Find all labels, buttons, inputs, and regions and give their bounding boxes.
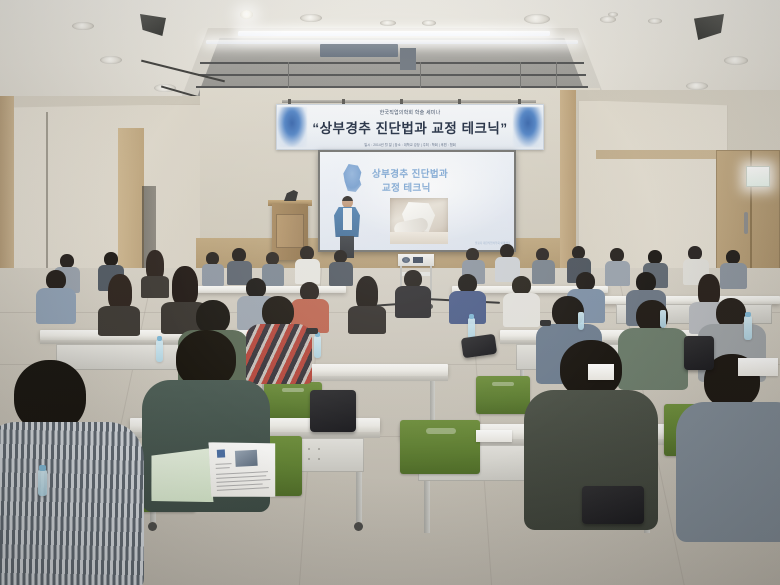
projector-vent	[413, 257, 423, 263]
presenter-shirt	[343, 208, 352, 230]
chair	[476, 376, 530, 414]
booklet-right-page	[208, 439, 279, 500]
recessed-downlight	[600, 16, 616, 23]
water-bottle	[660, 310, 666, 328]
left-wall-panel	[10, 104, 202, 276]
recessed-downlight	[72, 22, 94, 30]
screen-title-line1: 상부경추 진단법과	[372, 166, 448, 180]
ceiling-speaker	[140, 14, 166, 36]
bottle-cap	[157, 336, 162, 341]
bottle-cap	[39, 465, 46, 471]
screen-title-line2: 교정 테크닉	[382, 180, 431, 194]
backpack	[310, 390, 356, 432]
handout	[476, 430, 512, 442]
handout	[738, 358, 778, 376]
linear-ceiling-light	[238, 31, 550, 36]
backpack	[582, 486, 644, 524]
bottle-cap	[469, 314, 474, 319]
recessed-downlight	[608, 12, 618, 17]
water-bottle	[38, 470, 47, 496]
water-bottle	[578, 312, 584, 330]
recessed-downlight	[380, 20, 396, 26]
ceiling-rail	[198, 74, 586, 76]
left-wall-wood-trim	[0, 96, 14, 284]
seminar-banner: 한국직업의학회 학술 세미나 “상부경추 진단법과 교정 테크닉” 일시 : 2…	[276, 104, 544, 150]
recessed-downlight	[240, 10, 253, 19]
desk	[196, 286, 346, 293]
banner-footer: 일시 : 2014년 월 일 | 장소 : 대학교 강당 | 주최 : 학회 |…	[277, 142, 543, 147]
presenter-head	[342, 196, 353, 208]
ceiling-duct	[320, 44, 398, 57]
recessed-downlight	[724, 56, 748, 65]
recessed-downlight	[300, 14, 322, 22]
ceiling-rail	[200, 62, 584, 64]
lecture-hall-photo: 한국직업의학회 학술 세미나 “상부경추 진단법과 교정 테크닉” 일시 : 2…	[0, 0, 780, 585]
presenter	[334, 196, 360, 258]
left-wall-wood-column	[118, 128, 144, 280]
projector-lens-icon	[402, 257, 410, 263]
water-bottle	[314, 336, 321, 358]
door-handle[interactable]	[744, 212, 748, 234]
water-bottle	[744, 316, 752, 340]
backpack	[684, 336, 714, 370]
left-wall-seam	[46, 112, 48, 280]
smartphone	[306, 328, 318, 334]
banner-rail	[282, 100, 536, 103]
clinical-adjustment-photo	[390, 198, 448, 244]
exit-sign	[746, 166, 770, 187]
chair	[400, 420, 480, 474]
banner-subtitle: 한국직업의학회 학술 세미나	[277, 109, 543, 116]
recessed-downlight	[686, 82, 708, 90]
recessed-downlight	[422, 20, 436, 26]
recessed-downlight	[100, 56, 122, 64]
recessed-downlight	[524, 14, 550, 24]
recessed-downlight	[648, 18, 662, 24]
water-bottle	[156, 340, 163, 362]
podium-front-panel	[276, 214, 304, 248]
ceiling-duct	[400, 48, 416, 70]
booklet-left-page	[149, 448, 214, 505]
handout	[588, 364, 614, 380]
bottle-cap	[745, 312, 751, 317]
ceiling-speaker	[694, 14, 724, 40]
open-seminar-booklet	[148, 439, 279, 508]
smartphone	[540, 320, 551, 326]
banner-title: “상부경추 진단법과 교정 테크닉”	[277, 117, 543, 137]
